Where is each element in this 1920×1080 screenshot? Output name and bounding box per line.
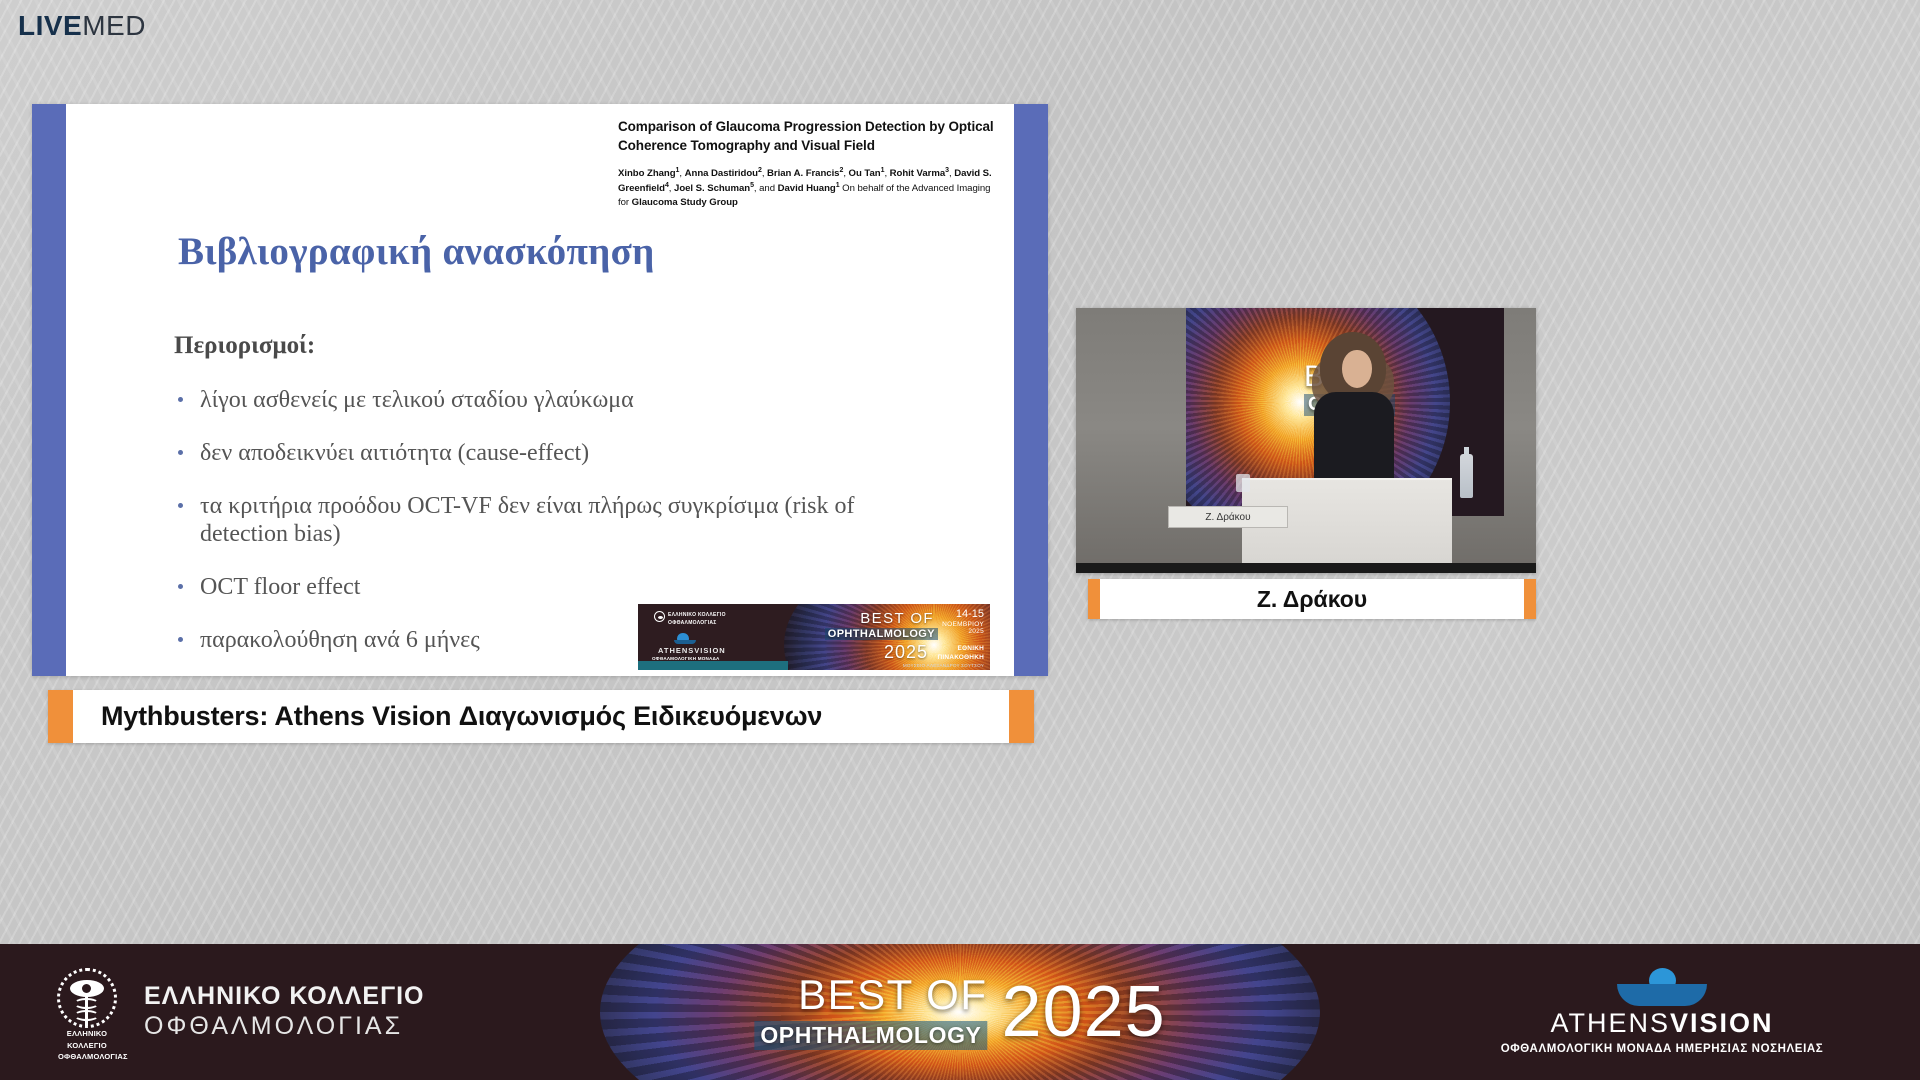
banner-venue: ΕΘΝΙΚΗΠΙΝΑΚΟΘΗΚΗ ΜΟΥΣΕΙΟ ΑΛΕΞΑΝΔΡΟΥ ΣΟΥΤ… [903, 644, 984, 670]
podium-nameplate: Ζ. Δράκου [1168, 506, 1288, 528]
bullet-dot-icon [178, 584, 183, 589]
water-bottle [1460, 454, 1473, 498]
banner-athensvision: ATHENSVISION [658, 646, 726, 655]
slide-conference-banner: ΕΛΛΗΝΙΚΟ ΚΟΛΛΕΓΙΟΟΦΘΑΛΜΟΛΟΓΙΑΣ ATHENSVIS… [636, 602, 992, 672]
brand-live: LIVE [18, 10, 82, 41]
bullet-dot-icon [178, 397, 183, 402]
emblem-caption: ΕΛΛΗΝΙΚΟ ΚΟΛΛΕΓΙΟΟΦΘΑΛΜΟΛΟΓΙΑΣ [58, 1028, 116, 1063]
footer-vision: VISION [1670, 1008, 1774, 1038]
footer-best-of: BEST OF [754, 974, 987, 1016]
speaker-face [1342, 350, 1372, 388]
footer-athens: ATHENS [1550, 1008, 1670, 1038]
slide-heading: Βιβλιογραφική ανασκόπηση [178, 229, 655, 274]
footer-athensvision-name: ATHENSVISION [1462, 1010, 1862, 1037]
banner-teal-strip [638, 661, 788, 670]
footer-athensvision-sub: ΟΦΘΑΛΜΟΛΟΓΙΚΗ ΜΟΝΑΔΑ ΗΜΕΡΗΣΙΑΣ ΝΟΣΗΛΕΙΑΣ [1462, 1043, 1862, 1055]
banner-best-of: BEST OF [860, 610, 934, 627]
bullet-dot-icon [178, 503, 183, 508]
footer-ophthalmology: OPHTHALMOLOGY [754, 1021, 987, 1050]
footer-college-line2: ΟΦΘΑΛΜΟΛΟΓΙΑΣ [144, 1011, 425, 1041]
slide-subheading: Περιορισμοί: [174, 332, 315, 360]
paper-reference-block: Comparison of Glaucoma Progression Detec… [618, 118, 996, 209]
bullet-text: παρακολούθηση ανά 6 μήνες [200, 627, 480, 653]
footer-college-logo: ΕΛΛΗΝΙΚΟ ΚΟΛΛΕΓΙΟΟΦΘΑΛΜΟΛΟΓΙΑΣ ΕΛΛΗΝΙΚΟ … [48, 966, 425, 1058]
banner-date-year: 2025 [942, 628, 984, 635]
session-title-inner: Mythbusters: Athens Vision Διαγωνισμός Ε… [73, 690, 1009, 743]
list-item: δεν αποδεικνύει αιτιότητα (cause-effect) [174, 439, 974, 468]
livemed-logo: LIVEMED [18, 12, 146, 40]
bullet-dot-icon [178, 450, 183, 455]
speaker-name-text: Ζ. Δράκου [1257, 586, 1367, 613]
session-title-bar: Mythbusters: Athens Vision Διαγωνισμός Ε… [48, 690, 1034, 743]
athensvision-eye-icon [674, 632, 696, 644]
banner-venue-sub: ΜΟΥΣΕΙΟ ΑΛΕΞΑΝΔΡΟΥ ΣΟΥΤΣΟΥ [903, 663, 984, 670]
college-emblem-icon [654, 611, 665, 622]
slide-canvas: Comparison of Glaucoma Progression Detec… [66, 104, 1014, 676]
speaker-name-inner: Ζ. Δράκου [1100, 579, 1524, 619]
bullet-dot-icon [178, 637, 183, 642]
footer-athensvision-logo: ATHENSVISION ΟΦΘΑΛΜΟΛΟΓΙΚΗ ΜΟΝΑΔΑ ΗΜΕΡΗΣ… [1462, 966, 1862, 1055]
banner-date: 14-15 ΝΟΕΜΒΡΙΟΥ 2025 [942, 609, 984, 635]
page-footer: ΕΛΛΗΝΙΚΟ ΚΟΛΛΕΓΙΟΟΦΘΑΛΜΟΛΟΓΙΑΣ ΕΛΛΗΝΙΚΟ … [0, 944, 1920, 1080]
footer-college-line1: ΕΛΛΗΝΙΚΟ ΚΟΛΛΕΓΙΟ [144, 983, 425, 1011]
bullet-text: δεν αποδεικνύει αιτιότητα (cause-effect) [200, 440, 589, 466]
list-item: OCT floor effect [174, 573, 974, 602]
caduceus-snake-icon [74, 1010, 99, 1021]
video-bottom-edge [1076, 563, 1536, 573]
banner-date-days: 14-15 [942, 609, 984, 621]
session-title-text: Mythbusters: Athens Vision Διαγωνισμός Ε… [73, 701, 822, 732]
bullet-text: OCT floor effect [200, 574, 360, 600]
bullet-text: τα κριτήρια προόδου OCT-VF δεν είναι πλή… [200, 493, 855, 519]
brand-med: MED [82, 10, 146, 41]
footer-college-text: ΕΛΛΗΝΙΚΟ ΚΟΛΛΕΓΙΟ ΟΦΘΑΛΜΟΛΟΓΙΑΣ [144, 983, 425, 1041]
footer-event-left: BEST OF OPHTHALMOLOGY [754, 974, 987, 1050]
paper-title: Comparison of Glaucoma Progression Detec… [618, 118, 996, 155]
speaker-video[interactable]: BEST OPHTHA Ζ. Δράκου [1076, 308, 1536, 573]
list-item: τα κριτήρια προόδου OCT-VF δεν είναι πλή… [174, 492, 974, 550]
banner-ophthalmology: OPHTHALMOLOGY [825, 628, 938, 640]
list-item: λίγοι ασθενείς με τελικού σταδίου γλαύκω… [174, 386, 974, 415]
speaker-name-bar: Ζ. Δράκου [1088, 579, 1536, 619]
caduceus-snake-icon [74, 998, 99, 1009]
banner-date-month: ΝΟΕΜΒΡΙΟΥ [942, 621, 984, 628]
bullet-text-line2: detection bias) [200, 520, 974, 549]
presentation-slide[interactable]: Comparison of Glaucoma Progression Detec… [32, 104, 1048, 676]
college-emblem-icon: ΕΛΛΗΝΙΚΟ ΚΟΛΛΕΓΙΟΟΦΘΑΛΜΟΛΟΓΙΑΣ [48, 966, 126, 1058]
athensvision-eye-icon [1617, 966, 1707, 1008]
footer-event-logo: BEST OF OPHTHALMOLOGY 2025 [754, 974, 1165, 1050]
footer-year: 2025 [1002, 976, 1166, 1048]
water-glass [1236, 474, 1250, 492]
paper-authors: Xinbo Zhang1, Anna Dastiridou2, Brian A.… [618, 166, 996, 209]
speaker-figure [1308, 332, 1400, 494]
bullet-text: λίγοι ασθενείς με τελικού σταδίου γλαύκω… [200, 387, 634, 413]
banner-college-name: ΕΛΛΗΝΙΚΟ ΚΟΛΛΕΓΙΟΟΦΘΑΛΜΟΛΟΓΙΑΣ [668, 612, 726, 627]
